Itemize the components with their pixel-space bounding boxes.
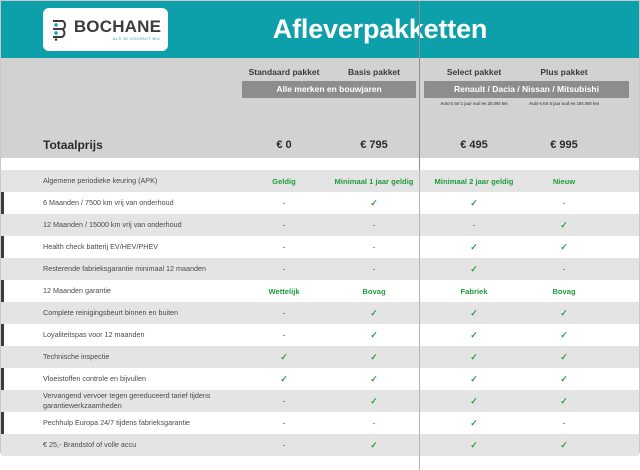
page-header: BOCHANE ALS JE VOORUIT WIL Afleverpakket… bbox=[1, 1, 639, 58]
total-price-standaard: € 0 bbox=[239, 139, 329, 151]
package-sub-standaard bbox=[239, 101, 329, 107]
group-badge-row: Alle merken en bouwjaren Renault / Dacia… bbox=[1, 81, 639, 98]
table-row: Technische inspectie✓✓✓✓ bbox=[1, 346, 639, 368]
page-title: Afleverpakketten bbox=[1, 14, 639, 45]
cell-select: ✓ bbox=[429, 374, 519, 385]
cell-basis: - bbox=[329, 418, 419, 428]
feature-rows: Algemene periodieke keuring (APK)GeldigM… bbox=[1, 170, 639, 456]
cell-plus: - bbox=[519, 264, 609, 274]
table-header-band: Standaard pakket Basis pakket Select pak… bbox=[1, 58, 639, 131]
total-price-select: € 495 bbox=[429, 139, 519, 151]
cell-basis: ✓ bbox=[329, 330, 419, 341]
cell-select: Minimaal 2 jaar geldig bbox=[429, 177, 519, 186]
total-price-label: Totaalprijs bbox=[1, 138, 239, 152]
feature-label: 12 Maanden garantie bbox=[1, 286, 239, 296]
cell-basis: ✓ bbox=[329, 374, 419, 385]
cell-select: ✓ bbox=[429, 396, 519, 407]
cell-plus: ✓ bbox=[519, 242, 609, 253]
group-badge-merken-select-plus: Renault / Dacia / Nissan / Mitsubishi bbox=[424, 81, 629, 98]
cell-select: ✓ bbox=[429, 352, 519, 363]
table-row: Health check batterij EV/HEV/PHEV--✓✓ bbox=[1, 236, 639, 258]
cell-select: Fabriek bbox=[429, 287, 519, 296]
cell-basis: - bbox=[329, 264, 419, 274]
group-badge-alle-merken: Alle merken en bouwjaren bbox=[242, 81, 416, 98]
badge-feature-spacer bbox=[1, 81, 239, 98]
cell-select: ✓ bbox=[429, 308, 519, 319]
row-accent-bar bbox=[1, 192, 4, 214]
feature-label: Technische inspectie bbox=[1, 352, 239, 362]
table-row: 12 Maanden garantieWettelijkBovagFabriek… bbox=[1, 280, 639, 302]
cell-select: ✓ bbox=[429, 440, 519, 451]
cell-plus: ✓ bbox=[519, 396, 609, 407]
header-body-spacer bbox=[1, 160, 639, 170]
feature-label: € 25,- Brandstof of volle accu bbox=[1, 440, 239, 450]
package-sub-plus: Auto's tot 5 jaar oud en 100.000 km bbox=[519, 101, 609, 107]
cell-select: ✓ bbox=[429, 242, 519, 253]
cell-basis: Minimaal 1 jaar geldig bbox=[329, 177, 419, 186]
cell-select: ✓ bbox=[429, 330, 519, 341]
cell-standaard: - bbox=[239, 242, 329, 252]
cell-plus: - bbox=[519, 418, 609, 428]
feature-table-body: Algemene periodieke keuring (APK)GeldigM… bbox=[1, 170, 639, 470]
feature-label: Algemene periodieke keuring (APK) bbox=[1, 176, 239, 186]
package-name-select: Select pakket bbox=[429, 67, 519, 77]
total-price-basis: € 795 bbox=[329, 139, 419, 151]
feature-label: 12 Maanden / 15000 km vrij van onderhoud bbox=[1, 220, 239, 230]
cell-plus: Bovag bbox=[519, 287, 609, 296]
cell-select: ✓ bbox=[429, 418, 519, 429]
table-row: Resterende fabrieksgarantie minimaal 12 … bbox=[1, 258, 639, 280]
cell-basis: Bovag bbox=[329, 287, 419, 296]
cell-basis: - bbox=[329, 242, 419, 252]
cell-basis: ✓ bbox=[329, 308, 419, 319]
cell-standaard: ✓ bbox=[239, 352, 329, 363]
table-row: Complete reinigingsbeurt binnen en buite… bbox=[1, 302, 639, 324]
row-accent-bar bbox=[1, 236, 4, 258]
table-row: Vloeistoffen controle en bijvullen✓✓✓✓ bbox=[1, 368, 639, 390]
cell-standaard: - bbox=[239, 308, 329, 318]
package-subtitle-row: Auto's tot 1 jaar oud en 20.000 km Auto'… bbox=[1, 101, 639, 107]
cell-plus: ✓ bbox=[519, 220, 609, 231]
table-footer-pad bbox=[1, 456, 639, 470]
row-accent-bar bbox=[1, 412, 4, 434]
cell-basis: ✓ bbox=[329, 396, 419, 407]
package-sub-basis bbox=[329, 101, 419, 107]
cell-plus: ✓ bbox=[519, 308, 609, 319]
cell-plus: Nieuw bbox=[519, 177, 609, 186]
feature-label: Vloeistoffen controle en bijvullen bbox=[1, 374, 239, 384]
cell-standaard: ✓ bbox=[239, 374, 329, 385]
table-row: Pechhulp Europa 24/7 tijdens fabrieksgar… bbox=[1, 412, 639, 434]
table-row: Algemene periodieke keuring (APK)GeldigM… bbox=[1, 170, 639, 192]
table-row: Loyaliteitspas voor 12 maanden-✓✓✓ bbox=[1, 324, 639, 346]
cell-basis: - bbox=[329, 220, 419, 230]
cell-plus: - bbox=[519, 198, 609, 208]
package-name-row: Standaard pakket Basis pakket Select pak… bbox=[1, 58, 639, 77]
package-group-divider-body bbox=[419, 170, 420, 470]
cell-select: ✓ bbox=[429, 198, 519, 209]
cell-plus: ✓ bbox=[519, 330, 609, 341]
feature-label: Vervangend vervoer tegen gereduceerd tar… bbox=[1, 391, 239, 411]
package-name-plus: Plus pakket bbox=[519, 67, 609, 77]
cell-standaard: - bbox=[239, 220, 329, 230]
afleverpakketten-page: BOCHANE ALS JE VOORUIT WIL Afleverpakket… bbox=[0, 0, 640, 453]
cell-plus: ✓ bbox=[519, 440, 609, 451]
package-name-basis: Basis pakket bbox=[329, 67, 419, 77]
cell-plus: ✓ bbox=[519, 352, 609, 363]
cell-select: ✓ bbox=[429, 264, 519, 275]
feature-label: Health check batterij EV/HEV/PHEV bbox=[1, 242, 239, 252]
package-name-standaard: Standaard pakket bbox=[239, 67, 329, 77]
cell-standaard: Geldig bbox=[239, 177, 329, 186]
row-accent-bar bbox=[1, 280, 4, 302]
cell-basis: ✓ bbox=[329, 352, 419, 363]
table-row: 6 Maanden / 7500 km vrij van onderhoud-✓… bbox=[1, 192, 639, 214]
header-feature-spacer bbox=[1, 67, 239, 77]
package-sub-select: Auto's tot 1 jaar oud en 20.000 km bbox=[429, 101, 519, 107]
feature-label: 6 Maanden / 7500 km vrij van onderhoud bbox=[1, 198, 239, 208]
cell-standaard: - bbox=[239, 330, 329, 340]
row-accent-bar bbox=[1, 368, 4, 390]
total-price-plus: € 995 bbox=[519, 139, 609, 151]
cell-standaard: - bbox=[239, 440, 329, 450]
cell-standaard: - bbox=[239, 396, 329, 406]
total-price-row: Totaalprijs € 0 € 795 € 495 € 995 bbox=[1, 131, 639, 160]
row-accent-bar bbox=[1, 324, 4, 346]
cell-standaard: - bbox=[239, 264, 329, 274]
subtitle-feature-spacer bbox=[1, 101, 239, 107]
feature-label: Loyaliteitspas voor 12 maanden bbox=[1, 330, 239, 340]
feature-label: Resterende fabrieksgarantie minimaal 12 … bbox=[1, 264, 239, 274]
table-row: 12 Maanden / 15000 km vrij van onderhoud… bbox=[1, 214, 639, 236]
cell-select: - bbox=[429, 220, 519, 230]
cell-standaard: Wettelijk bbox=[239, 287, 329, 296]
cell-standaard: - bbox=[239, 418, 329, 428]
cell-standaard: - bbox=[239, 198, 329, 208]
table-row: Vervangend vervoer tegen gereduceerd tar… bbox=[1, 390, 639, 412]
feature-label: Complete reinigingsbeurt binnen en buite… bbox=[1, 308, 239, 318]
feature-label: Pechhulp Europa 24/7 tijdens fabrieksgar… bbox=[1, 418, 239, 428]
cell-basis: ✓ bbox=[329, 198, 419, 209]
cell-basis: ✓ bbox=[329, 440, 419, 451]
cell-plus: ✓ bbox=[519, 374, 609, 385]
